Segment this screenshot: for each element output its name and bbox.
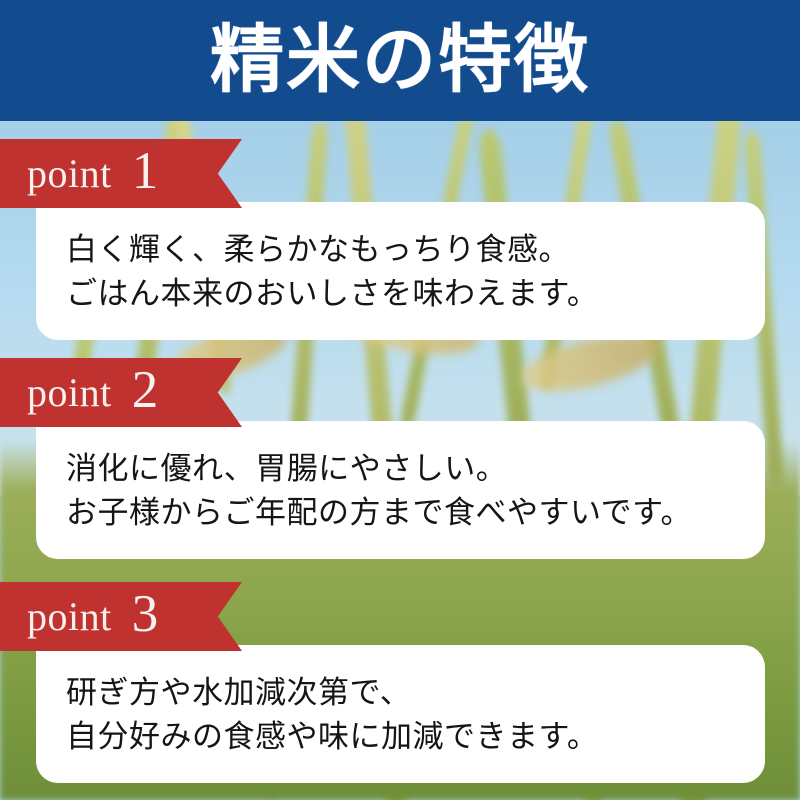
point-card-3: 研ぎ方や水加減次第で、 自分好みの食感や味に加減できます。	[36, 645, 765, 783]
point-ribbon-number-3: 3	[132, 588, 159, 641]
point-ribbon-3: point 3	[0, 582, 242, 651]
point-ribbon-2: point 2	[0, 358, 242, 427]
header-banner: 精米の特徴	[0, 0, 800, 121]
point-ribbon-label-2: point	[27, 373, 112, 413]
point-ribbon-1: point 1	[0, 139, 242, 208]
point-card-line: 白く輝く、柔らかなもっちり食感。	[66, 228, 735, 272]
point-card-line: 自分好みの食感や味に加減できます。	[66, 715, 735, 759]
point-card-line: 消化に優れ、胃腸にやさしい。	[66, 447, 735, 491]
point-card-line: お子様からご年配の方まで食べやすいです。	[66, 491, 735, 535]
point-card-line: ごはん本来のおいしさを味わえます。	[66, 272, 735, 316]
point-ribbon-number-1: 1	[132, 145, 159, 198]
point-block-1: point 1 白く輝く、柔らかなもっちり食感。 ごはん本来のおいしさを味わえま…	[0, 139, 800, 340]
point-block-3: point 3 研ぎ方や水加減次第で、 自分好みの食感や味に加減できます。	[0, 582, 800, 783]
page-title: 精米の特徴	[210, 24, 590, 98]
point-card-1: 白く輝く、柔らかなもっちり食感。 ごはん本来のおいしさを味わえます。	[36, 202, 765, 340]
point-ribbon-label-1: point	[27, 154, 112, 194]
point-card-line: 研ぎ方や水加減次第で、	[66, 671, 735, 715]
point-card-2: 消化に優れ、胃腸にやさしい。 お子様からご年配の方まで食べやすいです。	[36, 421, 765, 559]
point-ribbon-number-2: 2	[132, 364, 159, 417]
point-block-2: point 2 消化に優れ、胃腸にやさしい。 お子様からご年配の方まで食べやすい…	[0, 358, 800, 559]
point-ribbon-label-3: point	[27, 597, 112, 637]
poster-canvas: 精米の特徴 point 1 白く輝く、柔らかなもっちり食感。 ごはん本来のおいし…	[0, 0, 800, 800]
